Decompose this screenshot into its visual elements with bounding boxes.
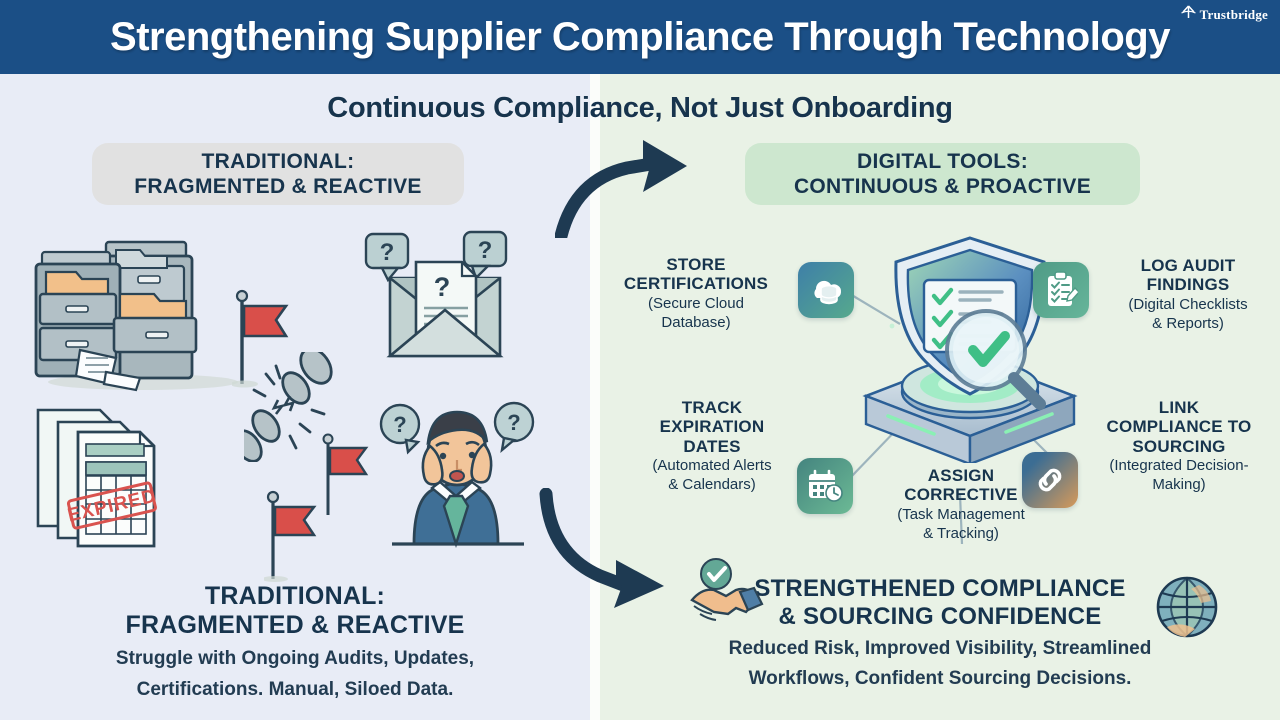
feature-store-certifications: STORE CERTIFICATIONS (Secure Cloud Datab…	[598, 255, 794, 332]
arrow-traditional-to-outcome-bottom	[528, 488, 708, 613]
expired-documents-icon: EXPIRED	[32, 402, 192, 557]
feature-track-expiration-dates: TRACK EXPIRATION DATES (Automated Alerts…	[626, 398, 798, 494]
outcome-sub2: Workflows, Confident Sourcing Decisions.	[600, 667, 1280, 691]
page-title: Strengthening Supplier Compliance Throug…	[110, 15, 1170, 60]
stressed-person-icon: ? ?	[378, 398, 538, 558]
feature-title-line2: FINDINGS	[1098, 275, 1278, 294]
calendar-clock-icon	[797, 458, 853, 514]
feature-link-compliance-to-sourcing: LINK COMPLIANCE TO SOURCING (Integrated …	[1084, 398, 1274, 494]
brand-name: Trustbridge	[1200, 7, 1268, 23]
traditional-caption: TRADITIONAL: FRAGMENTED & REACTIVE Strug…	[0, 582, 590, 703]
feature-title-line2: CORRECTIVE	[866, 485, 1056, 504]
traditional-caption-line2: FRAGMENTED & REACTIVE	[0, 611, 590, 640]
feature-log-audit-findings: LOG AUDIT FINDINGS (Digital Checklists &…	[1098, 256, 1278, 333]
feature-title-line1: TRACK	[626, 398, 798, 417]
svg-text:?: ?	[478, 237, 493, 264]
brand-logo: Trustbridge	[1180, 5, 1268, 25]
arrow-traditional-to-digital-top	[555, 128, 725, 243]
red-flag-icon	[264, 490, 322, 587]
cloud-database-icon	[798, 262, 854, 318]
red-flag-icon	[232, 288, 294, 393]
feature-sub-line1: (Digital Checklists	[1098, 296, 1278, 314]
pill-digital-line1: DIGITAL TOOLS:	[857, 149, 1028, 174]
globe-icon	[1155, 575, 1219, 644]
feature-title-line1: LOG AUDIT	[1098, 256, 1278, 275]
subtitle: Continuous Compliance, Not Just Onboardi…	[0, 92, 1280, 125]
feature-sub-line2: Making)	[1084, 476, 1274, 494]
feature-title-line3: SOURCING	[1084, 437, 1274, 456]
svg-text:?: ?	[393, 412, 406, 437]
bridge-icon	[1180, 5, 1197, 25]
feature-sub-line2: & Tracking)	[866, 525, 1056, 543]
clipboard-checklist-icon	[1033, 262, 1089, 318]
pill-traditional-line1: TRADITIONAL:	[202, 149, 355, 174]
pill-traditional-line2: FRAGMENTED & REACTIVE	[134, 174, 421, 199]
feature-sub-line2: & Reports)	[1098, 315, 1278, 333]
feature-title-line2: CERTIFICATIONS	[598, 274, 794, 293]
feature-title-line1: LINK	[1084, 398, 1274, 417]
envelope-question-icon: ? ? ?	[360, 230, 535, 385]
traditional-caption-sub1: Struggle with Ongoing Audits, Updates,	[0, 647, 590, 671]
svg-text:?: ?	[380, 239, 395, 266]
pill-digital: DIGITAL TOOLS: CONTINUOUS & PROACTIVE	[745, 143, 1140, 205]
traditional-caption-line1: TRADITIONAL:	[0, 582, 590, 611]
feature-title-line3: DATES	[626, 437, 798, 456]
feature-title-line1: STORE	[598, 255, 794, 274]
svg-text:?: ?	[434, 272, 451, 302]
traditional-caption-sub2: Certifications. Manual, Siloed Data.	[0, 678, 590, 702]
pill-traditional: TRADITIONAL: FRAGMENTED & REACTIVE	[92, 143, 464, 205]
svg-text:?: ?	[507, 410, 520, 435]
filing-cabinets-icon	[28, 232, 258, 397]
pill-digital-line2: CONTINUOUS & PROACTIVE	[794, 174, 1091, 199]
feature-title-line1: ASSIGN	[866, 466, 1056, 485]
header-bar: Strengthening Supplier Compliance Throug…	[0, 0, 1280, 74]
feature-sub-line1: (Integrated Decision-	[1084, 457, 1274, 475]
feature-sub-line1: (Task Management	[866, 506, 1056, 524]
feature-assign-corrective: ASSIGN CORRECTIVE (Task Management & Tra…	[866, 466, 1056, 543]
feature-sub-line1: (Secure Cloud	[598, 295, 794, 313]
feature-sub-line2: Database)	[598, 314, 794, 332]
feature-sub-line1: (Automated Alerts	[626, 457, 798, 475]
red-flag-icon	[320, 432, 374, 523]
feature-title-line2: COMPLIANCE TO	[1084, 417, 1274, 436]
feature-title-line2: EXPIRATION	[626, 417, 798, 436]
